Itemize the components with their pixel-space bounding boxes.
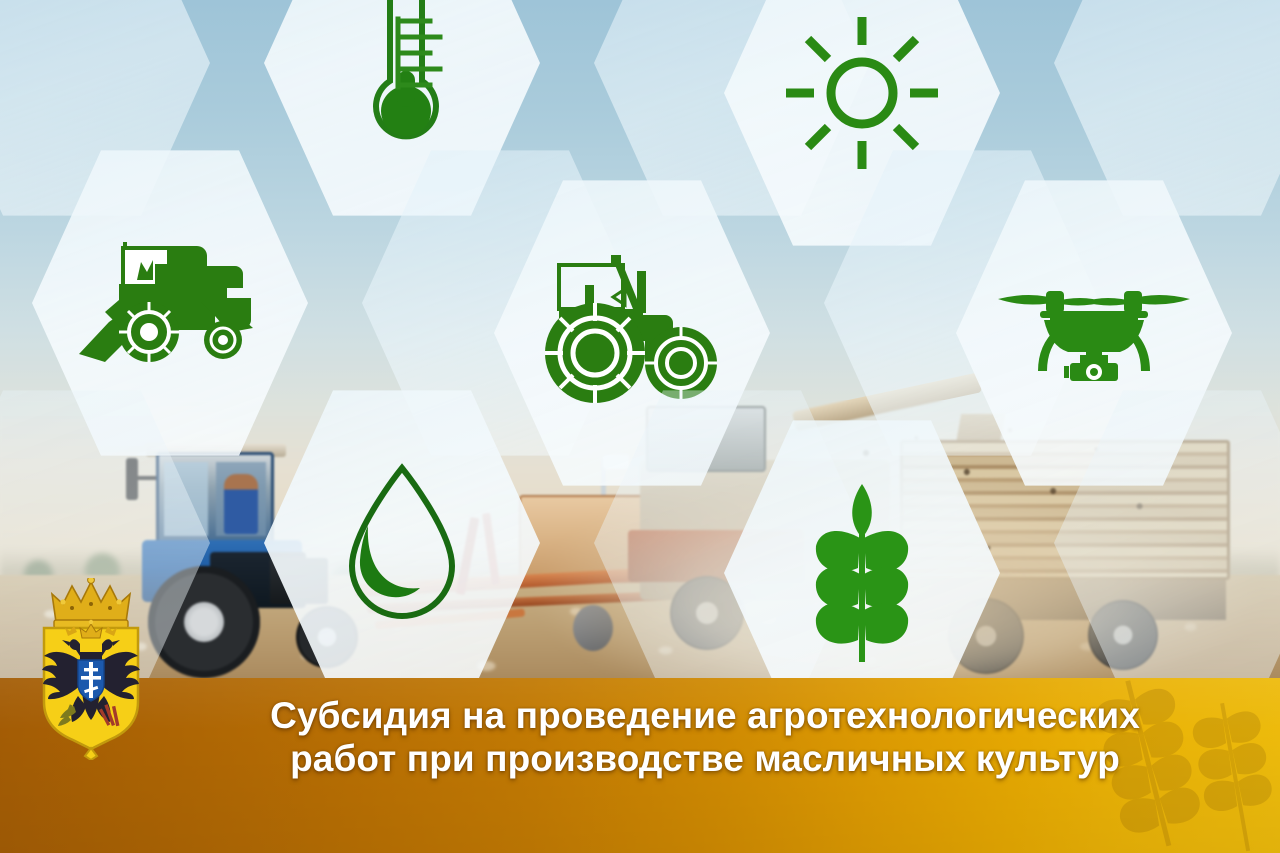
oil-drop-icon [338,460,466,626]
thermometer-icon [344,0,460,151]
sun-icon [782,13,942,173]
poster: Субсидия на проведение агротехнологическ… [0,0,1280,853]
title-line-1: Субсидия на проведение агротехнологическ… [270,695,1140,736]
page-title: Субсидия на проведение агротехнологическ… [150,694,1260,781]
title-line-2: работ при производстве масличных культур [290,738,1120,779]
drone-icon [994,277,1194,389]
tractor-icon [541,255,723,411]
hexagon-grid [0,0,1280,700]
wheat-ear-icon [804,480,920,666]
coat-of-arms-emblem [32,578,150,760]
combine-harvester-icon [75,236,265,370]
